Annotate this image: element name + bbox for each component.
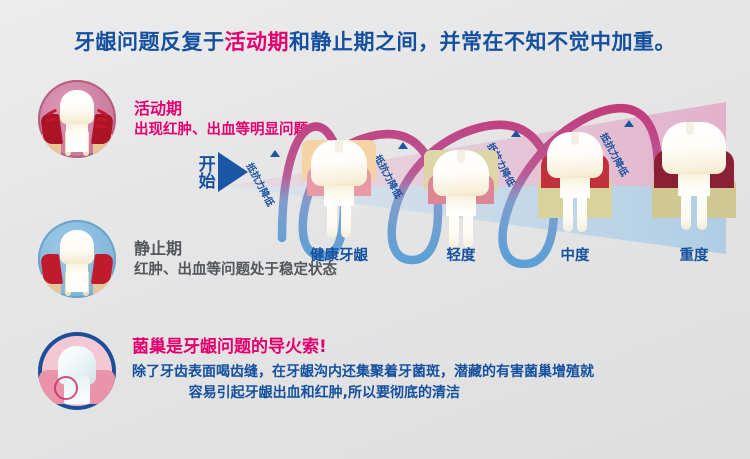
stage-label-healthy: 健康牙龈 xyxy=(272,244,406,265)
plaque-callout-text: 菌巢是牙龈问题的导火索! 除了牙齿表面喝齿缝，在牙龈沟内还集聚着牙菌斑，潜藏的有… xyxy=(132,332,594,404)
plaque-body-line-1: 除了牙齿表面喝齿缝，在牙龈沟内还集聚着牙菌斑，潜藏的有害菌巢增殖就 xyxy=(132,362,594,383)
up-triangle-icon xyxy=(270,150,280,157)
tooth-stage-moderate xyxy=(538,132,612,236)
tooth-stage-severe xyxy=(652,122,736,234)
up-triangle-icon xyxy=(511,130,521,137)
plaque-body-line-2: 容易引起牙龈出血和红肿,所以要彻底的清洁 xyxy=(132,383,594,404)
progression-diagram: 开始 抵抗力降低 抵抗力降低 抵抗力降低 抵抗力降低 健康牙龈 xyxy=(186,78,750,268)
inflamed-tooth-icon xyxy=(38,80,116,158)
page-title: 牙龈问题反复于活动期和静止期之间，并常在不知不觉中加重。 xyxy=(0,26,750,56)
stable-tooth-icon xyxy=(38,220,116,298)
up-triangle-icon xyxy=(624,120,634,127)
tooth-stage-mild xyxy=(424,150,498,254)
poster-canvas: 牙龈问题反复于活动期和静止期之间，并常在不知不觉中加重。 活动期 出现红肿、出血… xyxy=(0,0,750,459)
page-title-part-3: 和静止期之间，并常在不知不觉中加重。 xyxy=(289,30,676,54)
right-triangle-icon xyxy=(218,152,248,192)
stage-label-mild: 轻度 xyxy=(408,244,514,265)
start-label: 开始 xyxy=(196,155,213,189)
tooth-stage-healthy xyxy=(302,140,376,244)
up-triangle-icon xyxy=(398,142,408,149)
page-title-highlight: 活动期 xyxy=(225,30,290,54)
plaque-callout: 菌巢是牙龈问题的导火索! 除了牙齿表面喝齿缝，在牙龈沟内还集聚着牙菌斑，潜藏的有… xyxy=(38,332,728,410)
plaque-tooth-icon xyxy=(38,332,116,410)
stage-label-moderate: 中度 xyxy=(522,244,628,265)
stage-label-severe: 重度 xyxy=(638,244,750,265)
start-marker: 开始 xyxy=(196,152,248,192)
plaque-heading: 菌巢是牙龈问题的导火索! xyxy=(132,332,594,357)
page-title-part-1: 牙龈问题反复于 xyxy=(74,30,225,54)
